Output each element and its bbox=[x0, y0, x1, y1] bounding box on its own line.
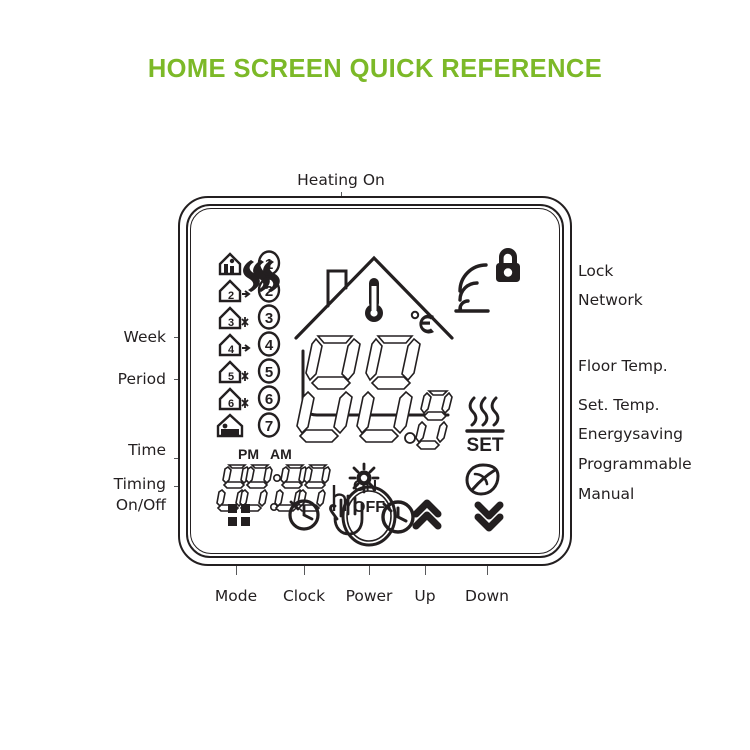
callout-energysaving: Energysaving bbox=[578, 424, 683, 445]
callout-lock: Lock bbox=[578, 261, 613, 282]
lock-icon bbox=[496, 248, 520, 282]
thermostat-device: SET bbox=[178, 196, 572, 566]
callout-floor-temp: Floor Temp. bbox=[578, 356, 668, 377]
lcd-graphics: SET bbox=[198, 216, 552, 516]
button-row bbox=[178, 482, 572, 566]
callout-period: Period bbox=[40, 369, 166, 390]
svg-text:6: 6 bbox=[265, 391, 273, 408]
callout-programmable: Programmable bbox=[578, 454, 692, 475]
period-house-icon: 2 3 bbox=[218, 254, 249, 436]
quick-reference-page: HOME SCREEN QUICK REFERENCE Heating On W… bbox=[0, 0, 750, 750]
floor-heat-icon bbox=[467, 398, 503, 431]
svg-text:7: 7 bbox=[265, 418, 273, 435]
svg-text:5: 5 bbox=[265, 364, 273, 381]
heat-wave-icon bbox=[243, 260, 280, 292]
main-temp-digit-2 bbox=[357, 336, 420, 442]
svg-text:2: 2 bbox=[228, 290, 234, 302]
celsius-unit-icon bbox=[412, 312, 434, 334]
clock-button-icon[interactable] bbox=[290, 501, 318, 529]
pm-label: PM bbox=[238, 446, 259, 462]
main-temp-digit-1 bbox=[297, 336, 360, 442]
callout-network: Network bbox=[578, 290, 643, 311]
svg-text:5: 5 bbox=[228, 371, 234, 383]
main-temp-decimal-point bbox=[405, 433, 415, 443]
callout-week: Week bbox=[40, 327, 166, 348]
svg-text:6: 6 bbox=[228, 398, 234, 410]
am-label: AM bbox=[270, 446, 292, 462]
callout-manual: Manual bbox=[578, 484, 634, 505]
callout-time: Time bbox=[40, 440, 166, 461]
page-title: HOME SCREEN QUICK REFERENCE bbox=[0, 55, 750, 84]
callout-heating-on: Heating On bbox=[271, 170, 411, 191]
chevron-up-icon[interactable] bbox=[416, 503, 438, 526]
set-label-icon: SET bbox=[467, 435, 504, 456]
callout-timing-onoff: On/Off bbox=[40, 495, 166, 516]
svg-text:2: 2 bbox=[265, 283, 273, 300]
main-temp-decimal-digit bbox=[416, 391, 452, 449]
grid-icon[interactable] bbox=[228, 504, 250, 526]
wifi-icon bbox=[456, 265, 488, 311]
svg-text:4: 4 bbox=[265, 337, 274, 354]
callout-set-temp: Set. Temp. bbox=[578, 395, 660, 416]
thermometer-icon bbox=[365, 278, 383, 322]
power-circle-icon[interactable] bbox=[343, 487, 395, 545]
lcd-screen: SET bbox=[198, 216, 552, 486]
callout-timing: Timing bbox=[40, 474, 166, 495]
svg-text:3: 3 bbox=[228, 317, 234, 329]
chevron-down-icon[interactable] bbox=[478, 505, 500, 528]
callout-down: Down bbox=[437, 586, 537, 607]
svg-text:4: 4 bbox=[228, 344, 235, 356]
svg-text:3: 3 bbox=[265, 310, 273, 327]
svg-text:1: 1 bbox=[265, 256, 273, 273]
